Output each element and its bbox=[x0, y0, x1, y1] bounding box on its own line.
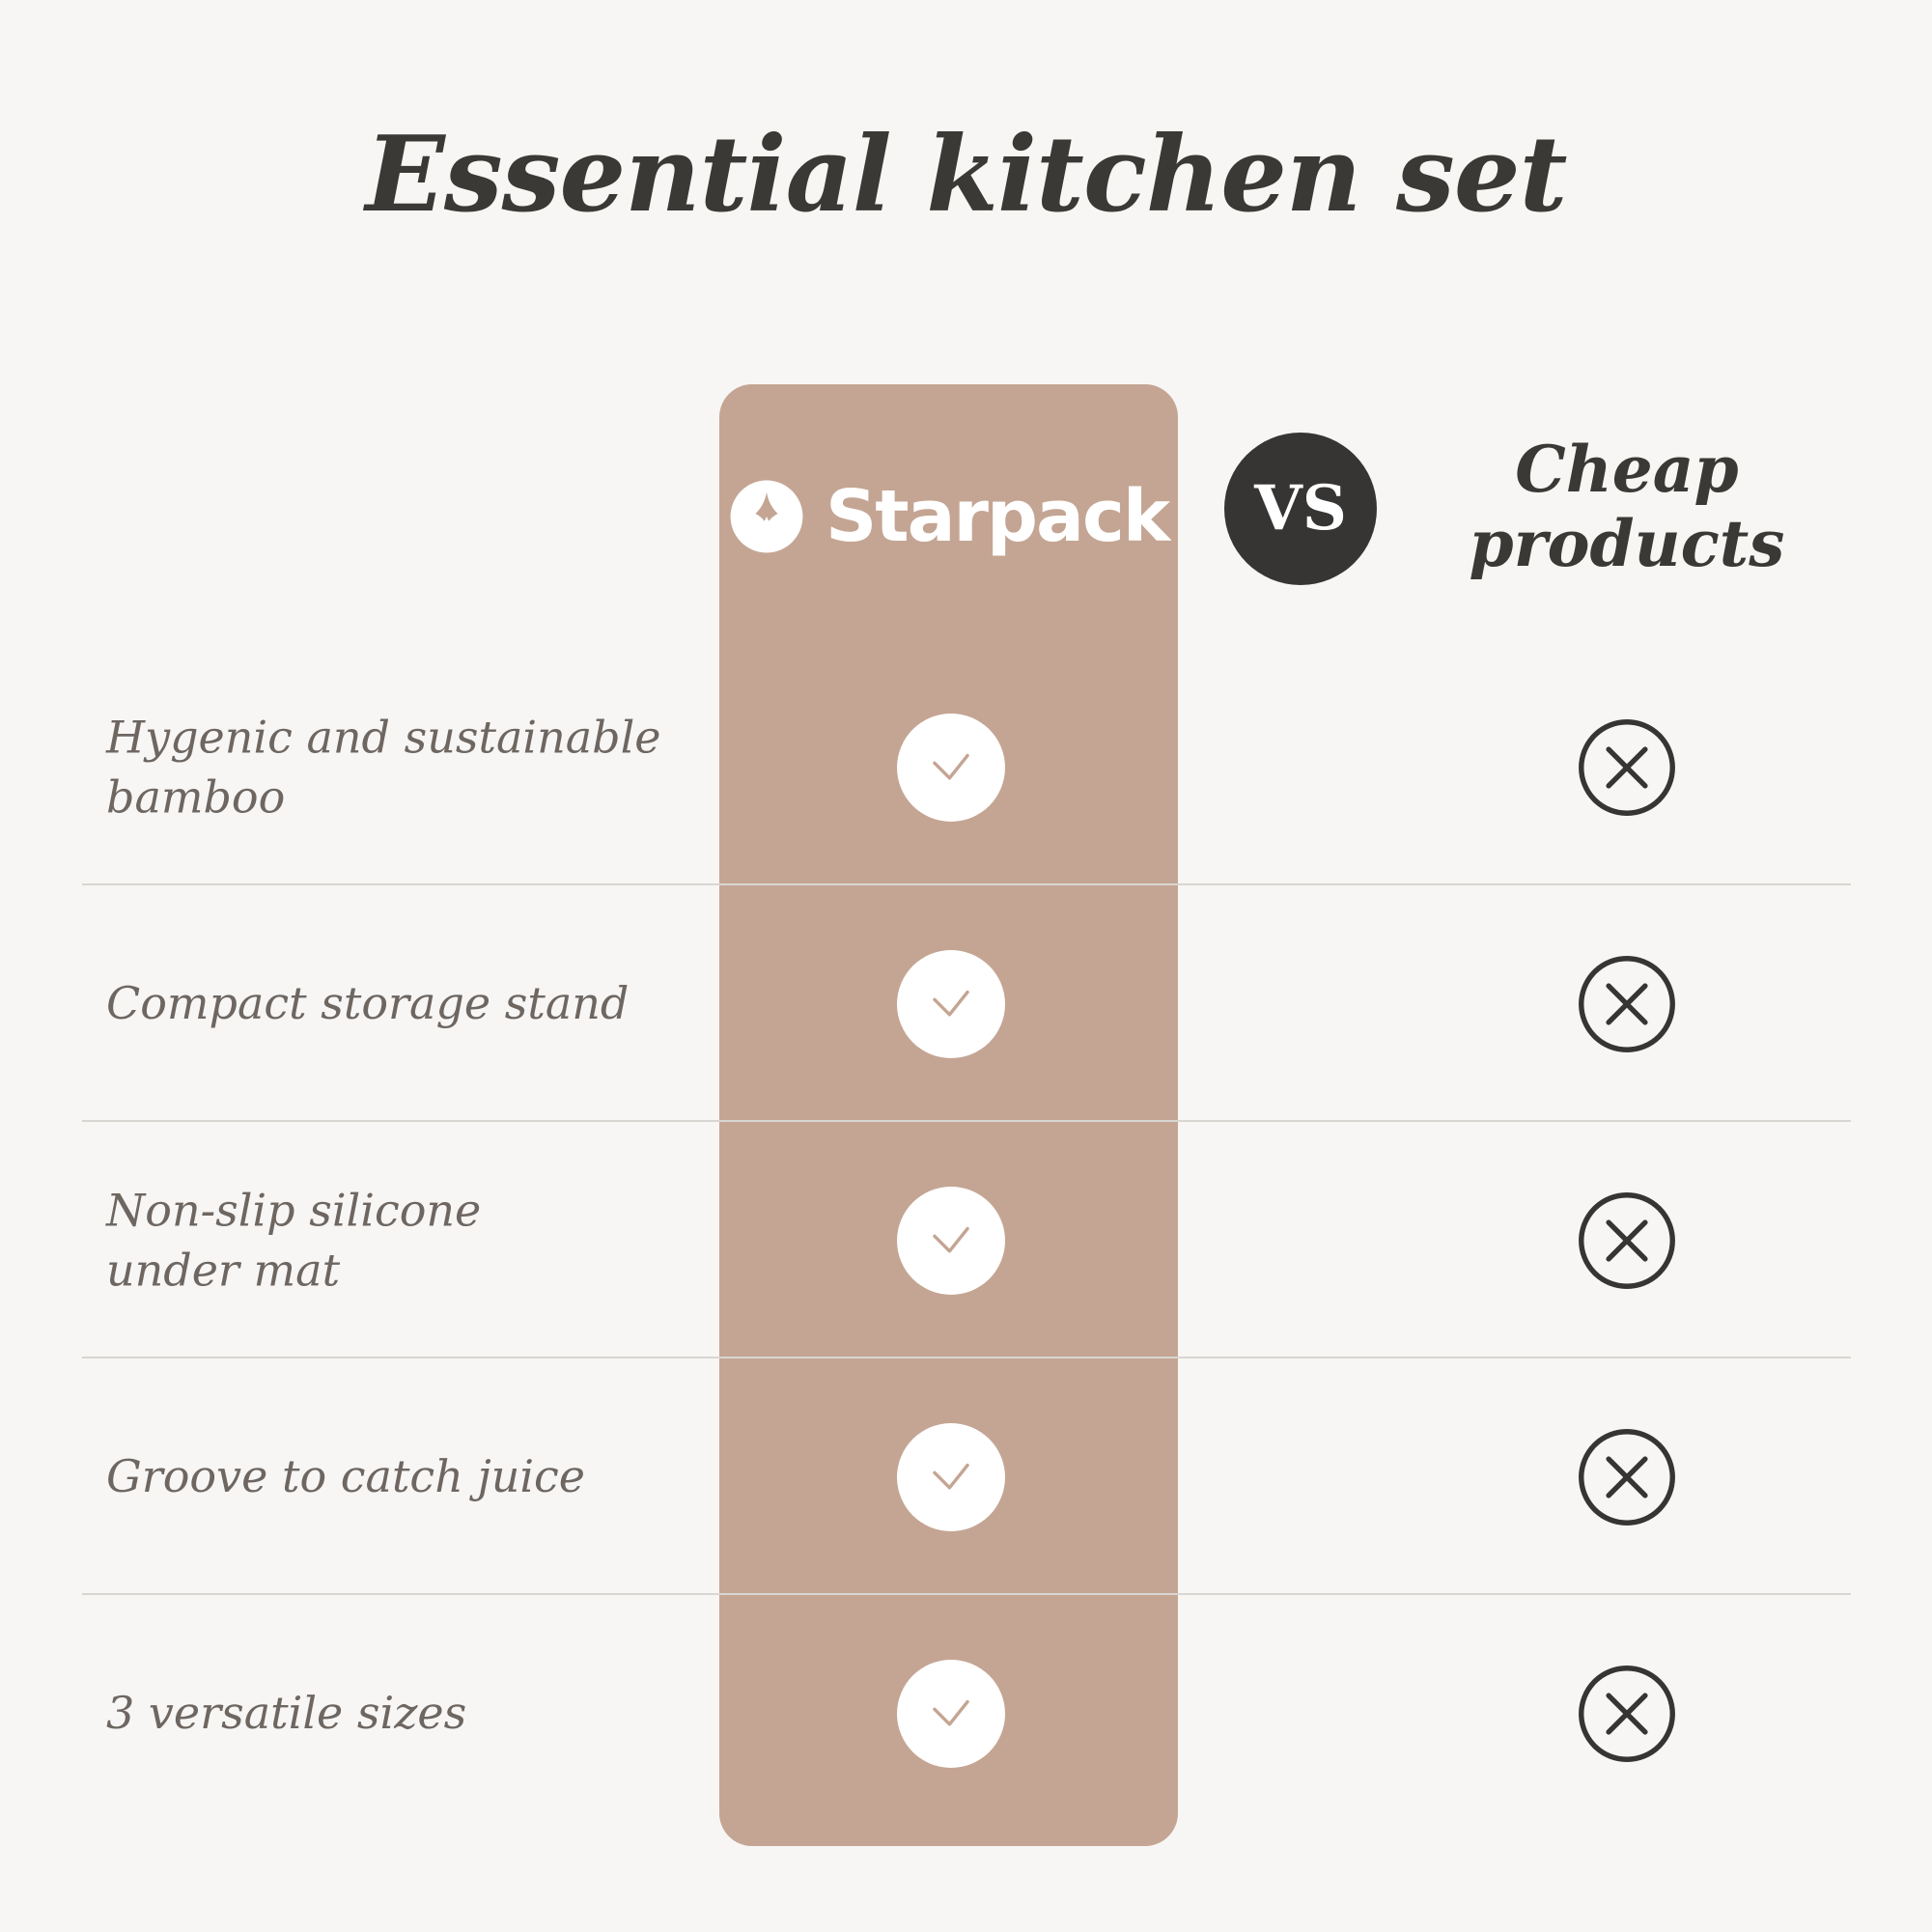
competitor-cell bbox=[1559, 1173, 1694, 1308]
feature-label: 3 versatile sizes bbox=[106, 1684, 686, 1744]
check-icon bbox=[921, 1211, 981, 1271]
starpack-cell bbox=[883, 1646, 1019, 1781]
feature-label-line1: Compact storage stand bbox=[106, 974, 686, 1034]
starpack-cell bbox=[883, 937, 1019, 1072]
check-circle bbox=[897, 1660, 1005, 1768]
feature-label-line1: Hygenic and sustainable bbox=[106, 708, 686, 768]
starpack-cell bbox=[883, 1173, 1019, 1308]
brand-logo: Starpack bbox=[719, 463, 1178, 570]
table-row: Non-slip silicone under mat bbox=[0, 1120, 1932, 1361]
feature-label: Groove to catch juice bbox=[106, 1447, 686, 1507]
feature-label: Hygenic and sustainable bamboo bbox=[106, 708, 686, 826]
check-icon bbox=[921, 974, 981, 1034]
starpack-diamond-star-icon bbox=[729, 479, 804, 554]
feature-label: Non-slip silicone under mat bbox=[106, 1181, 686, 1300]
circle-x-icon bbox=[1575, 1662, 1679, 1766]
row-divider bbox=[82, 1593, 1851, 1595]
circle-x-icon bbox=[1575, 715, 1679, 820]
circle-x-icon bbox=[1575, 952, 1679, 1056]
row-divider bbox=[82, 1120, 1851, 1122]
row-divider bbox=[82, 883, 1851, 885]
competitor-cell bbox=[1559, 1410, 1694, 1545]
competitor-column-heading: Cheap products bbox=[1400, 433, 1854, 580]
feature-label-line2: bamboo bbox=[106, 768, 686, 827]
starpack-cell bbox=[883, 1410, 1019, 1545]
vs-badge: VS bbox=[1224, 433, 1377, 585]
starpack-cell bbox=[883, 700, 1019, 835]
table-row: Compact storage stand bbox=[0, 883, 1932, 1125]
vs-label: VS bbox=[1254, 478, 1347, 540]
feature-label: Compact storage stand bbox=[106, 974, 686, 1034]
feature-label-line1: Non-slip silicone bbox=[106, 1181, 686, 1241]
competitor-cell bbox=[1559, 937, 1694, 1072]
row-divider bbox=[82, 1357, 1851, 1358]
check-circle bbox=[897, 950, 1005, 1058]
circle-x-icon bbox=[1575, 1425, 1679, 1529]
feature-label-line1: 3 versatile sizes bbox=[106, 1684, 686, 1744]
brand-name-label: Starpack bbox=[826, 481, 1168, 552]
check-icon bbox=[921, 738, 981, 798]
table-row: Hygenic and sustainable bamboo bbox=[0, 647, 1932, 888]
competitor-cell bbox=[1559, 700, 1694, 835]
comparison-chart-page: Essential kitchen set Starpack VS Cheap … bbox=[0, 0, 1932, 1932]
table-row: Groove to catch juice bbox=[0, 1357, 1932, 1598]
competitor-cell bbox=[1559, 1646, 1694, 1781]
check-icon bbox=[921, 1684, 981, 1744]
check-circle bbox=[897, 1187, 1005, 1295]
feature-label-line2: under mat bbox=[106, 1241, 686, 1301]
page-title: Essential kitchen set bbox=[0, 114, 1932, 236]
competitor-heading-line2: products bbox=[1400, 507, 1854, 581]
competitor-heading-line1: Cheap bbox=[1400, 433, 1854, 507]
check-icon bbox=[921, 1447, 981, 1507]
feature-label-line1: Groove to catch juice bbox=[106, 1447, 686, 1507]
check-circle bbox=[897, 1423, 1005, 1531]
check-circle bbox=[897, 714, 1005, 822]
circle-x-icon bbox=[1575, 1189, 1679, 1293]
table-row: 3 versatile sizes bbox=[0, 1593, 1932, 1834]
